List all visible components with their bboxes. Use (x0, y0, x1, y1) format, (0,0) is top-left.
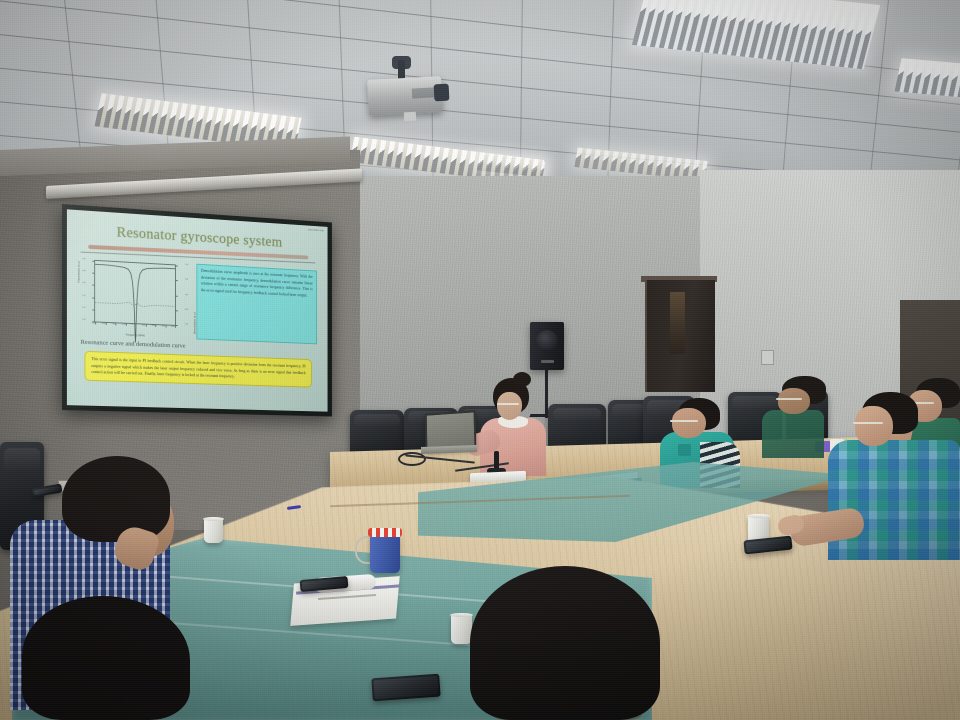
foreground-center-head (470, 566, 660, 720)
slide-yellow-textbox: This error signal is the input to PI fee… (84, 351, 311, 388)
blue-thermos-mug (370, 535, 400, 573)
speaker-cone (536, 330, 558, 352)
attendee-teal-pocket (678, 444, 691, 456)
ceiling-light-fixture-bright (894, 58, 960, 100)
chart-y2-axis-label: Demodulation (a.u.) (194, 312, 197, 334)
plastic-cup (451, 615, 472, 644)
mug-lid (368, 528, 402, 537)
glasses-icon (497, 403, 519, 405)
presenter-hair-bun (513, 372, 531, 387)
chart-curves (95, 261, 175, 347)
speaker-badge (541, 360, 554, 363)
wall-light-switch[interactable] (761, 350, 774, 365)
resonance-chart: Transmission (a.u.) Demodulation (a.u.) … (79, 257, 191, 339)
foreground-left-head (22, 596, 190, 720)
presentation-slide: presentation-logo Resonator gyroscope sy… (67, 209, 328, 411)
projector-foot (404, 112, 416, 122)
slide-logo: presentation-logo (308, 228, 324, 232)
chart-y-axis-label: Transmission (a.u.) (78, 261, 81, 283)
slide-cyan-textbox: Demodulation curve amplitude is zero at … (196, 264, 317, 345)
ceiling-light-fixture-bright (632, 0, 880, 69)
attendee-checkered-hair (62, 456, 170, 542)
yellow-textbox-text: This error signal is the input to PI fee… (91, 356, 305, 383)
attendee-teal-face (672, 408, 706, 438)
resonance-curve (95, 264, 175, 344)
attendee-back-body (762, 410, 824, 458)
glasses-icon (776, 398, 802, 400)
projector-vent (412, 87, 434, 98)
projector-lens (434, 84, 450, 102)
slide-body: Transmission (a.u.) Demodulation (a.u.) … (75, 257, 321, 345)
attendee-back-face (778, 388, 810, 414)
cyan-textbox-text: Demodulation curve amplitude is zero at … (201, 268, 313, 299)
glasses-icon (853, 422, 883, 424)
smartphone[interactable] (371, 674, 440, 702)
conference-room-photo: presentation-logo Resonator gyroscope sy… (0, 0, 960, 720)
door-glass-panel (670, 292, 685, 354)
glasses-icon (670, 420, 698, 422)
demodulation-curve (95, 301, 175, 308)
attendee-plaid-body (828, 440, 960, 560)
presenter-face (497, 392, 522, 420)
attendee-plaid-face (855, 406, 893, 446)
projection-screen[interactable]: presentation-logo Resonator gyroscope sy… (62, 204, 332, 416)
paper-cup (204, 519, 223, 543)
chart-plot-area: 0.00.20.40.60.81.0-1.0-0.50.00.51.0-400-… (94, 260, 176, 326)
